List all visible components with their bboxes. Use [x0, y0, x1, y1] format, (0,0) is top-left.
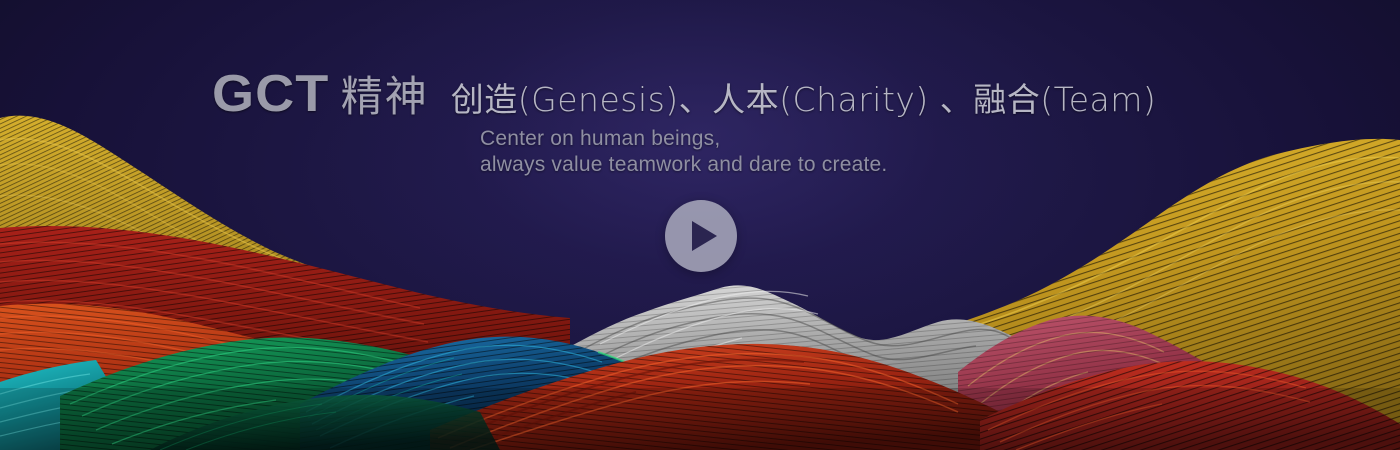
subtitle-line-1: Center on human beings, [480, 126, 887, 152]
brand-logo-text: GCT [212, 68, 329, 120]
play-video-button[interactable] [665, 200, 737, 272]
subtitle-line-2: always value teamwork and dare to create… [480, 152, 887, 178]
headline: GCT 精神 创造(Genesis)、人本(Charity) 、融合(Team) [212, 68, 1156, 120]
tagline-cn-text: 创造(Genesis)、人本(Charity) 、融合(Team) [451, 80, 1157, 120]
brand-cn-text: 精神 [341, 74, 429, 120]
subtitle-block: Center on human beings, always value tea… [480, 126, 887, 178]
play-icon [692, 221, 717, 251]
hero-banner: GCT 精神 创造(Genesis)、人本(Charity) 、融合(Team)… [0, 0, 1400, 450]
